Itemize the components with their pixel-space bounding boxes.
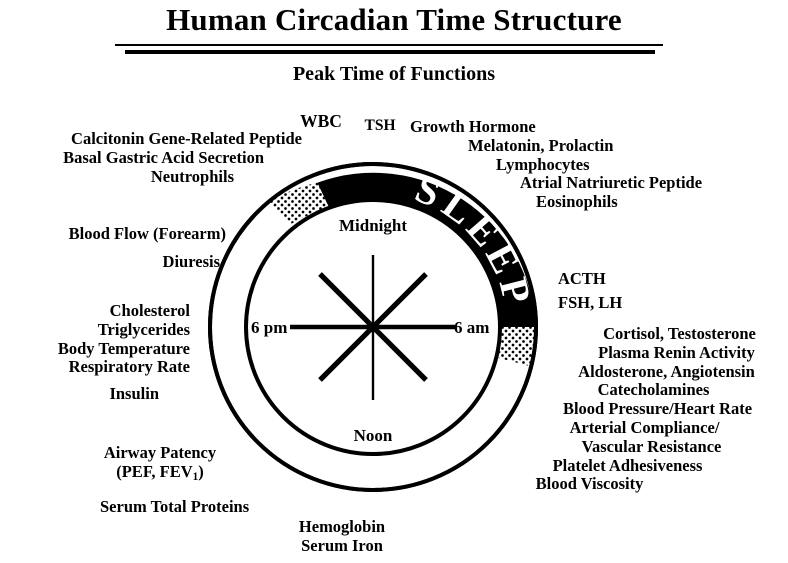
label-blood-pressure-heart-rate: Blood Pressure/Heart Rate xyxy=(455,400,788,419)
label-pef-fev1: (PEF, FEV1) xyxy=(70,463,250,484)
label-platelet-adhesiveness: Platelet Adhesiveness xyxy=(455,457,788,476)
label-respiratory-rate: Respiratory Rate xyxy=(0,358,190,377)
label-cortisol-testosterone: Cortisol, Testosterone xyxy=(455,325,788,344)
label-eosinophils: Eosinophils xyxy=(410,193,702,212)
label-insulin: Insulin xyxy=(0,377,190,404)
label-lymphocytes: Lymphocytes xyxy=(410,156,702,175)
diagram-canvas: Human Circadian Time Structure Peak Time… xyxy=(0,0,788,563)
dial-label-noon: Noon xyxy=(354,426,393,445)
label-serum-total-proteins: Serum Total Proteins xyxy=(100,498,249,517)
label-growth-hormone: Growth Hormone xyxy=(410,118,702,137)
label-fsh-lh: FSH, LH xyxy=(558,289,622,313)
label-neutrophils: Neutrophils xyxy=(0,168,302,187)
label-catecholamines: Catecholamines xyxy=(455,381,788,400)
label-blood-viscosity: Blood Viscosity xyxy=(455,475,788,494)
label-calcitonin-gene-related-peptide: Calcitonin Gene-Related Peptide xyxy=(0,130,302,149)
label-serum-iron: Serum Iron xyxy=(252,537,432,556)
label-vascular-resistance: Vascular Resistance xyxy=(455,438,788,457)
label-diuresis: Diuresis xyxy=(0,244,226,272)
dial-label-midnight: Midnight xyxy=(339,216,407,235)
dial-label-6pm: 6 pm xyxy=(251,318,287,337)
label-aldosterone-angiotensin: Aldosterone, Angiotensin xyxy=(455,363,788,382)
label-melatonin-prolactin: Melatonin, Prolactin xyxy=(410,137,702,156)
label-blood-flow-forearm: Blood Flow (Forearm) xyxy=(0,225,226,244)
label-basal-gastric-acid-secretion: Basal Gastric Acid Secretion xyxy=(0,149,302,168)
label-tsh: TSH xyxy=(352,117,408,135)
label-atrial-natriuretic-peptide: Atrial Natriuretic Peptide xyxy=(410,174,702,193)
label-body-temperature: Body Temperature xyxy=(0,340,190,359)
label-triglycerides: Triglycerides xyxy=(0,321,190,340)
label-cholesterol: Cholesterol xyxy=(0,302,190,321)
label-plasma-renin-activity: Plasma Renin Activity xyxy=(455,344,788,363)
label-arterial-compliance: Arterial Compliance/ xyxy=(455,419,788,438)
label-hemoglobin: Hemoglobin xyxy=(252,518,432,537)
label-airway-patency: Airway Patency xyxy=(70,444,250,463)
label-acth: ACTH xyxy=(558,270,622,289)
